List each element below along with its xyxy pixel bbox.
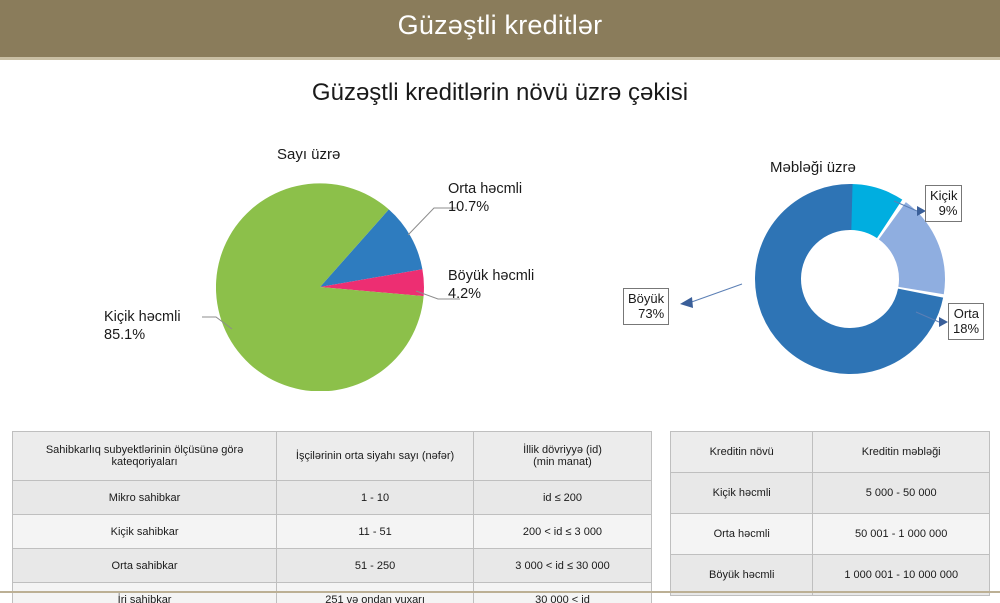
cell-credit-amount: 5 000 - 50 000 (813, 473, 990, 514)
pie-label-orta-name: Orta həcmli (448, 181, 522, 197)
donut-callout-boyuk-name: Böyük (628, 291, 664, 306)
header-line-1: İşçilərinin orta siyahı sayı (nəfər) (296, 450, 454, 462)
slide-canvas: Güzəştli kreditlər Güzəştli kreditlərin … (0, 0, 1000, 603)
pie-label-orta: Orta həcmli 10.7% (448, 180, 522, 216)
bottom-rule (0, 591, 1000, 593)
pie-chart-svg (216, 183, 424, 391)
table-row: Böyük həcmli 1 000 001 - 10 000 000 (671, 555, 990, 596)
cell-turnover: id ≤ 200 (473, 481, 651, 515)
header-line-2: (min manat) (533, 456, 592, 468)
cell-category: Kiçik sahibkar (13, 515, 277, 549)
pie-label-boyuk-name: Böyük həcmli (448, 268, 534, 284)
donut-callout-orta-percent: 18% (953, 321, 979, 336)
cell-credit-amount: 50 001 - 1 000 000 (813, 514, 990, 555)
table-row: Mikro sahibkar 1 - 10 id ≤ 200 (13, 481, 652, 515)
table-header-cell-category: Sahibkarlıq subyektlərinin ölçüsünə görə… (13, 432, 277, 481)
leader-line-kicik (202, 305, 236, 331)
pie-label-boyuk-percent: 4.2% (448, 286, 481, 302)
donut-callout-kicik-name: Kiçik (930, 188, 957, 203)
pie-label-kicik: Kiçik həcmli 85.1% (104, 308, 181, 344)
donut-callout-boyuk-percent: 73% (628, 306, 664, 321)
cell-employees: 1 - 10 (277, 481, 474, 515)
donut-callout-kicik-percent: 9% (930, 203, 957, 218)
header-line-2: kateqoriyaları (112, 456, 178, 468)
header-line-1: İllik dövriyyə (id) (523, 444, 602, 456)
pie-label-kicik-name: Kiçik həcmli (104, 309, 181, 325)
table-header-row: Sahibkarlıq subyektlərinin ölçüsünə görə… (13, 432, 652, 481)
table-header-row: Kreditin növü Kreditin məbləği (671, 432, 990, 473)
page-title: Güzəştli kreditlər (0, 10, 1000, 41)
donut-callout-boyuk[interactable]: Böyük 73% (623, 288, 669, 325)
donut-callout-kicik[interactable]: Kiçik 9% (925, 185, 962, 222)
donut-arrow-kicik (893, 198, 929, 220)
header-line-1: Sahibkarlıq subyektlərinin ölçüsünə görə (46, 444, 244, 456)
categories-table: Sahibkarlıq subyektlərinin ölçüsünə görə… (12, 431, 652, 603)
cell-turnover: 3 000 < id ≤ 30 000 (473, 549, 651, 583)
credit-types-table: Kreditin növü Kreditin məbləği Kiçik həc… (670, 431, 990, 596)
donut-arrow-boyuk (672, 282, 744, 312)
cell-employees: 11 - 51 (277, 515, 474, 549)
table-row: Orta sahibkar 51 - 250 3 000 < id ≤ 30 0… (13, 549, 652, 583)
table-header-cell-employees: İşçilərinin orta siyahı sayı (nəfər) (277, 432, 474, 481)
header-band-underline (0, 57, 1000, 60)
donut-chart-subtitle: Məbləği üzrə (770, 159, 856, 176)
cell-turnover: 200 < id ≤ 3 000 (473, 515, 651, 549)
cell-credit-amount: 1 000 001 - 10 000 000 (813, 555, 990, 596)
cell-employees: 51 - 250 (277, 549, 474, 583)
cell-credit-type: Orta həcmli (671, 514, 813, 555)
table-header-cell-credit-amount: Kreditin məbləği (813, 432, 990, 473)
pie-chart-subtitle: Sayı üzrə (277, 146, 340, 163)
chart-section-title: Güzəştli kreditlərin növü üzrə çəkisi (0, 79, 1000, 107)
cell-category: Mikro sahibkar (13, 481, 277, 515)
table-header-cell-credit-type: Kreditin növü (671, 432, 813, 473)
pie-label-orta-percent: 10.7% (448, 199, 489, 215)
cell-credit-type: Kiçik həcmli (671, 473, 813, 514)
cell-category: Orta sahibkar (13, 549, 277, 583)
pie-label-kicik-percent: 85.1% (104, 327, 145, 343)
donut-callout-orta-name: Orta (953, 306, 979, 321)
table-header-cell-turnover: İllik dövriyyə (id) (min manat) (473, 432, 651, 481)
cell-credit-type: Böyük həcmli (671, 555, 813, 596)
pie-chart (216, 183, 424, 391)
table-row: Orta həcmli 50 001 - 1 000 000 (671, 514, 990, 555)
pie-label-boyuk: Böyük həcmli 4.2% (448, 267, 534, 303)
donut-callout-orta[interactable]: Orta 18% (948, 303, 984, 340)
table-row: Kiçik sahibkar 11 - 51 200 < id ≤ 3 000 (13, 515, 652, 549)
donut-arrow-orta (915, 308, 951, 330)
table-row: Kiçik həcmli 5 000 - 50 000 (671, 473, 990, 514)
